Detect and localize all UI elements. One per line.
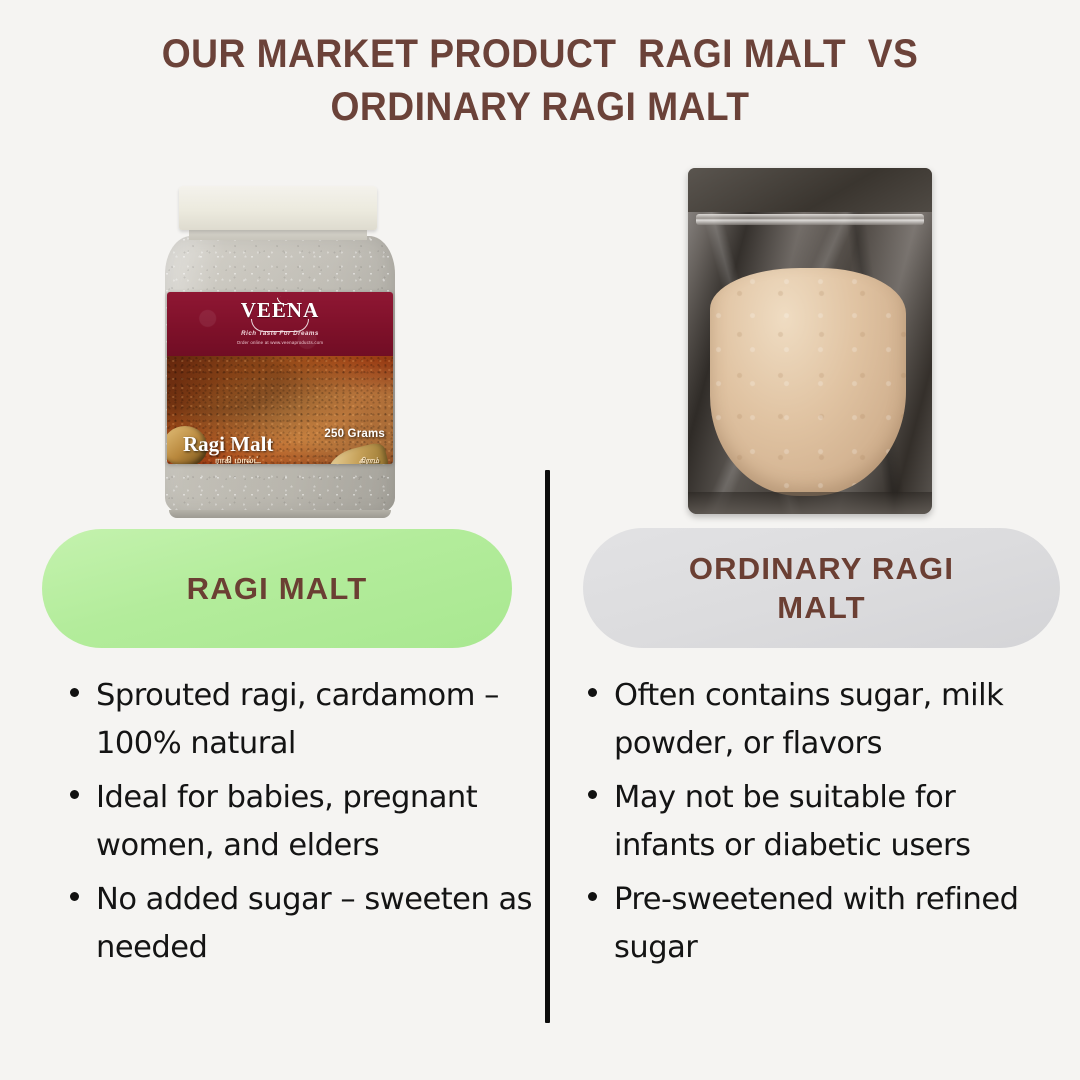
list-item: May not be suitable for infants or diabe… [588,774,1058,870]
bullet-dot-icon [70,688,79,697]
list-item: Pre-sweetened with refined sugar [588,876,1058,972]
grain-stalk-icon [323,441,393,464]
jar-lid [179,186,377,230]
pill-right-line-1: ORDINARY RAGI [689,551,954,586]
bullet-dot-icon [70,892,79,901]
brand-website: Order online at www.veenaproducts.com [167,340,393,345]
ordinary-ragi-malt-drawbacks-list: Often contains sugar, milk powder, or fl… [588,672,1058,978]
bullet-dot-icon [588,790,597,799]
pouch-top-seal [688,168,932,212]
list-item: Ideal for babies, pregnant women, and el… [70,774,540,870]
list-item: Sprouted ragi, cardamom – 100% natural [70,672,540,768]
list-item: Often contains sugar, milk powder, or fl… [588,672,1058,768]
list-item-text: Pre-sweetened with refined sugar [614,876,1058,972]
column-header-ragi-malt: RAGI MALT [42,529,512,648]
bullet-dot-icon [588,892,597,901]
list-item: No added sugar – sweeten as needed [70,876,540,972]
pill-right-line-2: MALT [777,590,866,625]
ragi-malt-benefits-list: Sprouted ragi, cardamom – 100% natural I… [70,672,540,978]
pouch-ziplock [696,214,924,225]
list-item-text: Ideal for babies, pregnant women, and el… [96,774,540,870]
list-item-text: Sprouted ragi, cardamom – 100% natural [96,672,540,768]
label-product-name: Ragi Malt [183,432,273,457]
label-weight-tamil: கிராம் [359,456,379,464]
pouch-powder-content [710,268,906,496]
list-item-text: Often contains sugar, milk powder, or fl… [614,672,1058,768]
jar-base [169,510,391,518]
jar-product-label: VEENA Rich Taste For Dreams Order online… [167,292,393,464]
product-image-row: VEENA Rich Taste For Dreams Order online… [0,0,1080,525]
label-top-band: VEENA Rich Taste For Dreams Order online… [167,292,393,358]
column-header-ordinary-ragi-malt: ORDINARY RAGIMALT [583,528,1060,648]
brand-tagline: Rich Taste For Dreams [167,330,393,337]
list-item-text: No added sugar – sweeten as needed [96,876,540,972]
list-item-text: May not be suitable for infants or diabe… [614,774,1058,870]
ragi-malt-jar-image: VEENA Rich Taste For Dreams Order online… [163,186,397,516]
ordinary-ragi-malt-pouch-image [688,168,932,514]
label-weight: 250 Grams [324,428,385,440]
column-header-ragi-malt-label: RAGI MALT [187,569,368,608]
vertical-divider [545,470,550,1023]
column-header-ordinary-ragi-malt-label: ORDINARY RAGIMALT [689,549,954,627]
pouch-bottom-gusset [688,492,932,514]
bullet-dot-icon [70,790,79,799]
label-bottom-band: Ragi Malt ராகி மால்ட் 250 Grams கிராம் S… [167,356,393,464]
bullet-dot-icon [588,688,597,697]
label-product-name-tamil: ராகி மால்ட் [215,455,261,464]
